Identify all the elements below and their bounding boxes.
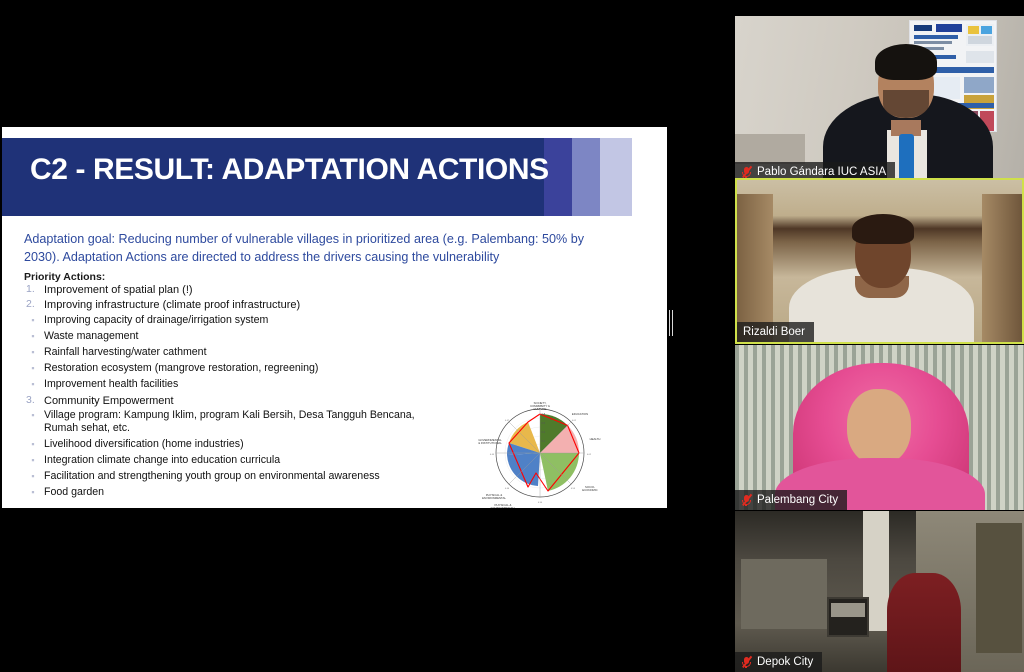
participant-name-3: Depok City: [757, 656, 813, 668]
action-subitem: ▪Integration climate change into educati…: [22, 454, 462, 468]
action-subitem-text: Restoration ecosystem (mangrove restorat…: [44, 362, 318, 375]
action-subitem-text: Improving capacity of drainage/irrigatio…: [44, 314, 268, 327]
participant-namebar-2: Palembang City: [735, 490, 847, 510]
svg-text:HEALTH: HEALTH: [590, 437, 601, 441]
action-subitem: ▪Waste management: [22, 330, 462, 344]
action-item: 3.Community Empowerment: [22, 394, 462, 408]
action-subitem: ▪Facilitation and strengthening youth gr…: [22, 470, 462, 484]
video-frame-2: [735, 345, 1024, 510]
action-subitem: ▪Restoration ecosystem (mangrove restora…: [22, 362, 462, 376]
svg-text:ECONOMIC: ECONOMIC: [582, 488, 597, 492]
slide-title: C2 - RESULT: ADAPTATION ACTIONS: [30, 153, 549, 187]
action-subitem: ▪Village program: Kampung Iklim, program…: [22, 409, 462, 435]
action-subitem-text: Waste management: [44, 330, 138, 343]
share-drag-handle[interactable]: [669, 310, 675, 336]
video-frame-3: [735, 511, 1024, 672]
bullet-icon: ▪: [22, 314, 44, 328]
video-frame-0: [735, 16, 1024, 182]
svg-text:0.6: 0.6: [542, 421, 546, 425]
action-text: Community Empowerment: [44, 394, 174, 408]
action-number: 3.: [22, 394, 44, 406]
adaptation-goal-text: Adaptation goal: Reducing number of vuln…: [24, 230, 620, 267]
svg-text:0.62: 0.62: [572, 420, 577, 422]
action-subitem: ▪Improvement health facilities: [22, 378, 462, 392]
svg-text:0.4: 0.4: [542, 430, 546, 434]
zoom-meeting-window: C2 - RESULT: ADAPTATION ACTIONS Adaptati…: [0, 0, 1024, 672]
bullet-icon: ▪: [22, 362, 44, 376]
action-number: 1.: [22, 283, 44, 295]
svg-text:ENVIRONMENTAL: ENVIRONMENTAL: [491, 506, 516, 508]
svg-text:0.2: 0.2: [542, 439, 546, 443]
participant-namebar-3: Depok City: [735, 652, 822, 672]
mic-muted-icon: [741, 166, 752, 179]
svg-text:0.55: 0.55: [571, 488, 576, 490]
svg-text:& INSTITUTIONAL: & INSTITUTIONAL: [478, 441, 502, 445]
action-text: Improvement of spatial plan (!): [44, 283, 193, 297]
bullet-icon: ▪: [22, 454, 44, 468]
shared-screen-region[interactable]: C2 - RESULT: ADAPTATION ACTIONS Adaptati…: [0, 0, 722, 672]
action-item: 1.Improvement of spatial plan (!): [22, 283, 462, 297]
svg-text:CULTURE: CULTURE: [533, 407, 546, 411]
bullet-icon: ▪: [22, 330, 44, 344]
bullet-icon: ▪: [22, 438, 44, 452]
participant-tile-0[interactable]: Pablo Gándara IUC ASIA: [735, 16, 1024, 182]
action-subitem: ▪Livelihood diversification (home indust…: [22, 438, 462, 452]
bullet-icon: ▪: [22, 346, 44, 360]
priority-actions-list: 1.Improvement of spatial plan (!)2.Impro…: [22, 283, 462, 502]
radar-chart-lower: 0.80.6 0.40.2 1 WASTE AGRICULTURE &FORES…: [457, 500, 622, 508]
svg-text:0.8: 0.8: [542, 412, 546, 416]
svg-text:0.66: 0.66: [505, 488, 510, 490]
priority-actions-label: Priority Actions:: [24, 271, 105, 283]
action-text: Improving infrastructure (climate proof …: [44, 298, 300, 312]
action-subitem-text: Facilitation and strengthening youth gro…: [44, 470, 380, 483]
action-subitem-text: Improvement health facilities: [44, 378, 178, 391]
svg-text:0.62: 0.62: [587, 454, 592, 456]
action-subitem: ▪Improving capacity of drainage/irrigati…: [22, 314, 462, 328]
title-band-4: [600, 138, 632, 216]
participant-tile-3[interactable]: Depok City: [735, 511, 1024, 672]
svg-text:EDUCATION: EDUCATION: [572, 412, 588, 416]
action-sublist: ▪Improving capacity of drainage/irrigati…: [22, 314, 462, 392]
title-band-3: [572, 138, 600, 216]
participant-name-2: Palembang City: [757, 494, 838, 506]
bullet-icon: ▪: [22, 486, 44, 500]
bullet-icon: ▪: [22, 378, 44, 392]
participant-name-1: Rizaldi Boer: [743, 326, 805, 338]
action-subitem: ▪Food garden: [22, 486, 462, 500]
mic-muted-icon: [741, 656, 752, 669]
action-subitem-text: Livelihood diversification (home industr…: [44, 438, 244, 451]
action-sublist: ▪Village program: Kampung Iklim, program…: [22, 409, 462, 499]
action-subitem-text: Food garden: [44, 486, 104, 499]
participant-tile-1[interactable]: Rizaldi Boer: [735, 178, 1024, 344]
action-subitem-text: Rainfall harvesting/water cathment: [44, 346, 207, 359]
action-subitem: ▪Rainfall harvesting/water cathment: [22, 346, 462, 360]
participant-namebar-1: Rizaldi Boer: [737, 322, 814, 342]
presentation-slide[interactable]: C2 - RESULT: ADAPTATION ACTIONS Adaptati…: [2, 127, 667, 508]
svg-text:0.65: 0.65: [490, 454, 495, 456]
bullet-icon: ▪: [22, 409, 44, 423]
mic-muted-icon: [741, 494, 752, 507]
participant-name-0: Pablo Gándara IUC ASIA: [757, 166, 886, 178]
action-subitem-text: Village program: Kampung Iklim, program …: [44, 409, 444, 435]
action-item: 2.Improving infrastructure (climate proo…: [22, 298, 462, 312]
participant-tile-2[interactable]: Palembang City: [735, 345, 1024, 510]
action-number: 2.: [22, 298, 44, 310]
action-subitem-text: Integration climate change into educatio…: [44, 454, 280, 467]
bullet-icon: ▪: [22, 470, 44, 484]
participant-filmstrip: Pablo Gándara IUC ASIA Rizaldi Boer: [722, 0, 1024, 672]
radar-chart-upper: 0.80.6 0.40.2 SOCIETY,COMMUNITY &CULTURE…: [457, 390, 617, 508]
video-frame-1: [737, 180, 1022, 342]
